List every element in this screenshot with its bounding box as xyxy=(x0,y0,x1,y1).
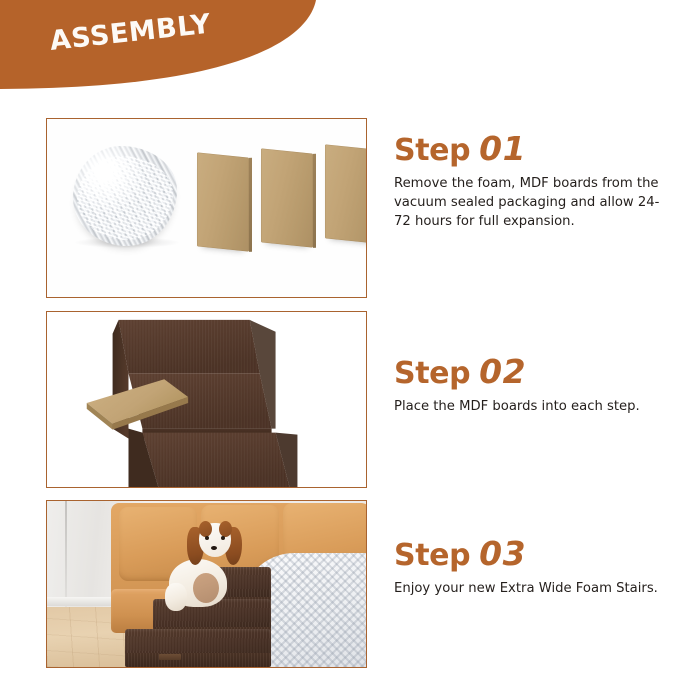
step-3-body: Enjoy your new Extra Wide Foam Stairs. xyxy=(394,579,672,598)
dog-head-patch-right xyxy=(219,521,232,537)
step-2-number: 02 xyxy=(479,352,526,391)
step-3-number: 03 xyxy=(479,534,526,573)
foam-stairs-diagram-icon xyxy=(47,312,366,487)
step-row-2: Step02 Place the MDF boards into each st… xyxy=(0,311,679,488)
dog-nose xyxy=(211,546,217,550)
step-2-photo-frame xyxy=(46,311,367,488)
dog-eye-right xyxy=(221,536,225,540)
dog-front-leg xyxy=(165,583,187,611)
mdf-board-3-icon xyxy=(325,144,366,243)
step-2-text-block: Step02 Place the MDF boards into each st… xyxy=(394,355,672,416)
step-2-photo xyxy=(47,312,366,487)
step-1-word: Step xyxy=(394,133,470,168)
mdf-board-1-icon xyxy=(197,152,249,251)
step-3-photo-frame xyxy=(46,500,367,668)
dog-body-patch xyxy=(193,573,219,603)
step-row-3: Step03 Enjoy your new Extra Wide Foam St… xyxy=(0,500,679,668)
step-3-heading: Step03 xyxy=(394,537,672,572)
step-1-text-block: Step01 Remove the foam, MDF boards from … xyxy=(394,132,672,231)
step-1-photo xyxy=(47,119,366,297)
brand-tag xyxy=(159,654,181,660)
foam-step-bottom-face xyxy=(125,653,271,667)
step-3-word: Step xyxy=(394,538,470,573)
step-3-text-block: Step03 Enjoy your new Extra Wide Foam St… xyxy=(394,537,672,598)
dog-eye-left xyxy=(205,536,209,540)
step-2-body: Place the MDF boards into each step. xyxy=(394,397,672,416)
step-1-photo-frame xyxy=(46,118,367,298)
page-title: ASSEMBLY xyxy=(48,9,212,57)
step-1-heading: Step01 xyxy=(394,132,672,167)
step-1-number: 01 xyxy=(479,129,526,168)
step-2-word: Step xyxy=(394,356,470,391)
dog-head-patch-left xyxy=(199,521,212,537)
step-row-1: Step01 Remove the foam, MDF boards from … xyxy=(0,118,679,298)
step-2-heading: Step02 xyxy=(394,355,672,390)
vacuum-sealed-foam-icon xyxy=(73,146,177,246)
step-1-body: Remove the foam, MDF boards from the vac… xyxy=(394,174,672,232)
assembly-header-banner: ASSEMBLY xyxy=(0,0,679,110)
step-3-photo xyxy=(47,501,366,667)
banner-shape-icon xyxy=(0,0,679,110)
mdf-board-2-icon xyxy=(261,148,313,247)
wall-corner-edge xyxy=(65,501,67,607)
